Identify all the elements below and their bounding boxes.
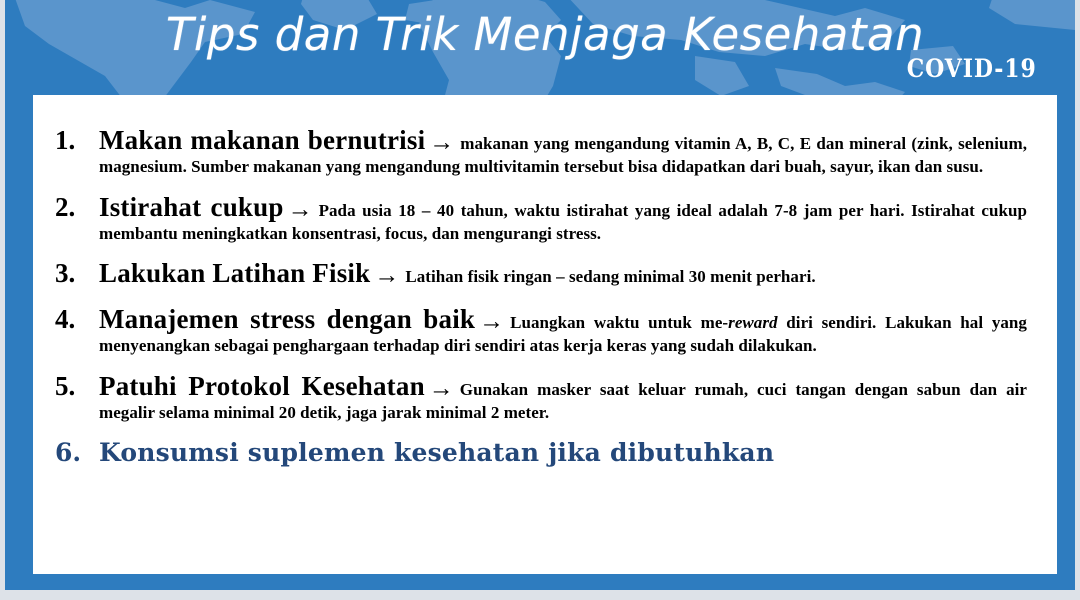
arrow-icon: →	[475, 307, 510, 337]
list-item: 1.Makan makanan bernutrisi→makanan yang …	[55, 125, 1027, 178]
arrow-icon: →	[425, 374, 460, 404]
list-item-heading: Konsumsi suplemen kesehatan jika dibutuh…	[99, 438, 774, 467]
list-item: 2.Istirahat cukup→Pada usia 18 – 40 tahu…	[55, 192, 1027, 245]
covid-badge: COVID-19	[907, 56, 1037, 81]
arrow-icon: →	[425, 128, 460, 158]
list-item: 3.Lakukan Latihan Fisik→Latihan fisik ri…	[55, 258, 1027, 290]
list-item-number: 4.	[55, 304, 93, 336]
list-item-body-pre: Latihan fisik ringan – sedang minimal 30…	[405, 267, 815, 286]
list-item-body: Latihan fisik ringan – sedang minimal 30…	[405, 267, 815, 286]
arrow-icon: →	[370, 261, 405, 291]
list-item-number: 2.	[55, 192, 93, 224]
list-item-number: 5.	[55, 371, 93, 403]
list-item-heading: Patuhi Protokol Kesehatan	[99, 371, 425, 401]
content-card: 1.Makan makanan bernutrisi→makanan yang …	[33, 95, 1057, 574]
list-item-heading: Manajemen stress dengan baik	[99, 304, 475, 334]
list-item-heading: Lakukan Latihan Fisik	[99, 258, 370, 288]
list-item: 4.Manajemen stress dengan baik→Luangkan …	[55, 304, 1027, 357]
list-item: 5.Patuhi Protokol Kesehatan→Gunakan mask…	[55, 371, 1027, 424]
slide-root: Tips dan Trik Menjaga Kesehatan COVID-19…	[0, 0, 1080, 600]
list-item-number: 1.	[55, 125, 93, 157]
slide-background: Tips dan Trik Menjaga Kesehatan COVID-19…	[5, 0, 1075, 590]
list-item-number: 3.	[55, 258, 93, 290]
list-item-heading: Makan makanan bernutrisi	[99, 125, 425, 155]
list-item: 6.Konsumsi suplemen kesehatan jika dibut…	[55, 438, 1027, 468]
list-item-number: 6.	[55, 438, 93, 468]
list-item-body-italic: reward	[728, 313, 777, 332]
tips-list: 1.Makan makanan bernutrisi→makanan yang …	[55, 125, 1027, 467]
arrow-icon: →	[284, 195, 319, 225]
list-item-body-pre: Luangkan waktu untuk me-	[510, 313, 728, 332]
list-item-heading: Istirahat cukup	[99, 192, 284, 222]
